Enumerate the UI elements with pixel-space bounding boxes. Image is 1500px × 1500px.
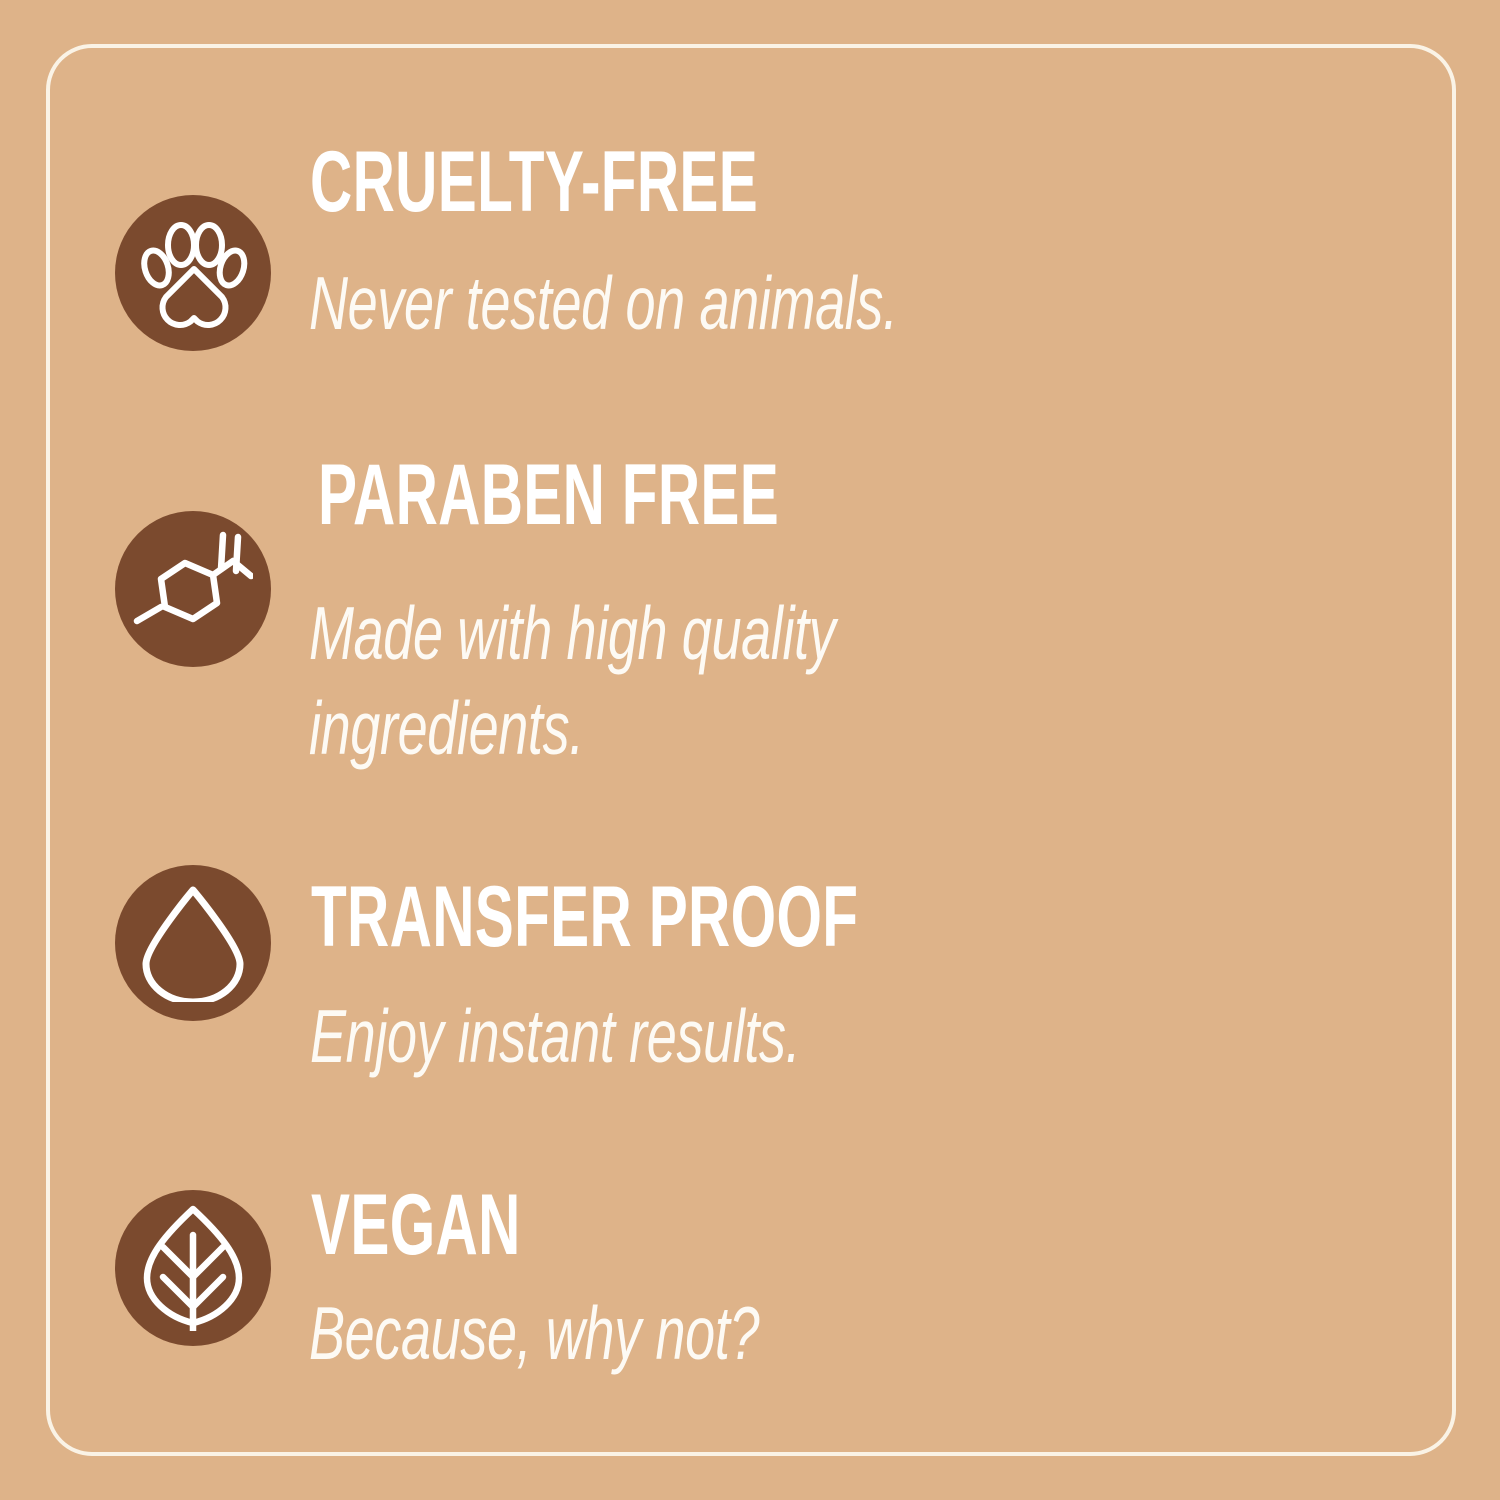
water-droplet-icon-badge — [115, 865, 271, 1021]
molecule-icon-badge — [115, 511, 271, 667]
headline-wrap: VEGAN — [311, 1185, 619, 1267]
leaf-icon-badge — [115, 1190, 271, 1346]
feature-headline: TRANSFER PROOF — [311, 877, 858, 959]
water-droplet-icon — [141, 884, 245, 1002]
headline-wrap: PARABEN FREE — [318, 455, 996, 537]
feature-headline: CRUELTY-FREE — [310, 142, 758, 224]
body-wrap: Never tested on animals. — [309, 256, 1127, 351]
feature-body-line: Made with high quality — [309, 586, 835, 681]
paw-print-icon — [137, 217, 249, 329]
feature-list: CRUELTY-FREE Never tested on animals. — [0, 0, 1500, 1500]
body-wrap: Made with high quality ingredients. — [309, 586, 1040, 775]
headline-wrap: CRUELTY-FREE — [310, 142, 969, 224]
feature-body-line: Never tested on animals. — [309, 256, 898, 351]
leaf-icon — [137, 1205, 249, 1331]
feature-headline: VEGAN — [311, 1185, 521, 1267]
feature-body-line: Enjoy instant results. — [310, 989, 800, 1084]
body-wrap: Enjoy instant results. — [310, 989, 991, 1084]
molecule-icon — [133, 529, 253, 649]
paw-print-icon-badge — [115, 195, 271, 351]
feature-headline: PARABEN FREE — [318, 455, 779, 537]
body-wrap: Because, why not? — [309, 1286, 934, 1381]
feature-body-line: ingredients. — [309, 681, 835, 776]
product-benefits-panel: CRUELTY-FREE Never tested on animals. — [0, 0, 1500, 1500]
headline-wrap: TRANSFER PROOF — [311, 877, 1116, 959]
feature-body-line: Because, why not? — [309, 1286, 759, 1381]
